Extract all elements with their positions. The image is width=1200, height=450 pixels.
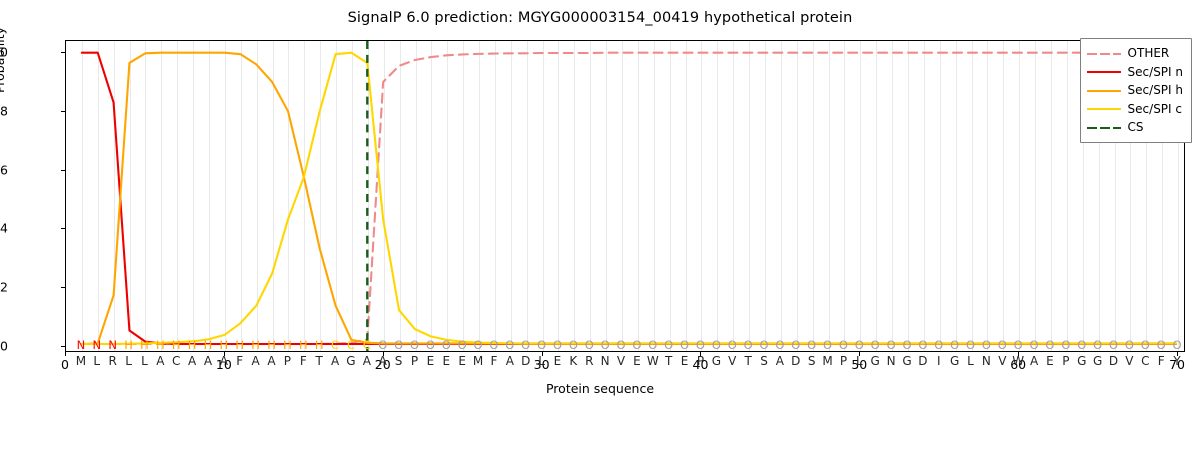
sequence-residue: T: [661, 353, 677, 369]
sequence-residue: A: [375, 353, 391, 369]
region-label: O: [1058, 337, 1074, 353]
region-label: O: [804, 337, 820, 353]
region-label: H: [184, 337, 200, 353]
region-label: C: [343, 337, 359, 353]
legend-item[interactable]: CS: [1087, 118, 1183, 137]
sequence-residue: V: [1121, 353, 1137, 369]
sequence-residue: A: [216, 353, 232, 369]
region-label: C: [359, 337, 375, 353]
sequence-residue: E: [677, 353, 693, 369]
sequence-residue: G: [343, 353, 359, 369]
y-tick-label: 0.2: [0, 280, 8, 295]
sequence-residue: L: [121, 353, 137, 369]
sequence-residue: S: [804, 353, 820, 369]
y-tick-label: 0.0: [0, 339, 8, 354]
sequence-residue: A: [248, 353, 264, 369]
sequence-residue: L: [851, 353, 867, 369]
sequence-residue: S: [756, 353, 772, 369]
region-label: H: [264, 337, 280, 353]
region-label: O: [422, 337, 438, 353]
region-label: O: [502, 337, 518, 353]
sequence-residue: N: [597, 353, 613, 369]
region-label: O: [518, 337, 534, 353]
region-label: H: [121, 337, 137, 353]
sequence-residue: P: [407, 353, 423, 369]
sequence-residue: P: [835, 353, 851, 369]
region-label: O: [581, 337, 597, 353]
sequence-residue: E: [549, 353, 565, 369]
x-axis-label: Protein sequence: [0, 381, 1200, 396]
region-label-row: NNNHHHHHHHHHHHHHCCCOOOOOOOOOOOOOOOOOOOOO…: [65, 337, 1185, 353]
sequence-residue: T: [311, 353, 327, 369]
region-label: N: [89, 337, 105, 353]
series-line-other: [82, 53, 1176, 344]
region-label: O: [883, 337, 899, 353]
sequence-residue: R: [581, 353, 597, 369]
region-label: O: [1153, 337, 1169, 353]
sequence-residue: I: [931, 353, 947, 369]
sequence-residue: L: [534, 353, 550, 369]
legend-swatch-icon: [1087, 66, 1121, 77]
region-label: O: [931, 337, 947, 353]
sequence-residue: P: [692, 353, 708, 369]
sequence-residue: C: [1137, 353, 1153, 369]
legend-item[interactable]: OTHER: [1087, 44, 1183, 63]
sequence-residue: V: [724, 353, 740, 369]
sequence-residue: M: [820, 353, 836, 369]
region-label: O: [407, 337, 423, 353]
sequence-residue: M: [73, 353, 89, 369]
region-label: N: [73, 337, 89, 353]
region-label: O: [1169, 337, 1185, 353]
sequence-residue: W: [1010, 353, 1026, 369]
series-line-sec-spi-h: [82, 53, 1176, 344]
region-label: O: [978, 337, 994, 353]
sequence-residue: A: [1026, 353, 1042, 369]
protein-sequence-row: MLRLLACAAAFAAPFTAGAASPEEEMFADLEKRNVEWTEP…: [65, 353, 1185, 369]
region-label: H: [136, 337, 152, 353]
series-line-sec-spi-n: [82, 53, 1176, 344]
sequence-residue: G: [1074, 353, 1090, 369]
region-label: O: [629, 337, 645, 353]
region-label: O: [454, 337, 470, 353]
legend-swatch-icon: [1087, 85, 1121, 96]
sequence-residue: L: [136, 353, 152, 369]
region-label: H: [152, 337, 168, 353]
region-label: O: [661, 337, 677, 353]
y-tick-label: 0.4: [0, 221, 8, 236]
region-label: C: [327, 337, 343, 353]
legend-swatch-icon: [1087, 48, 1121, 59]
sequence-residue: F: [1153, 353, 1169, 369]
legend: OTHERSec/SPI nSec/SPI hSec/SPI cCS: [1080, 38, 1192, 143]
region-label: O: [613, 337, 629, 353]
region-label: O: [692, 337, 708, 353]
sequence-residue: F: [486, 353, 502, 369]
sequence-residue: E: [422, 353, 438, 369]
chart-title: SignalP 6.0 prediction: MGYG000003154_00…: [0, 10, 1200, 26]
sequence-residue: P: [1058, 353, 1074, 369]
region-label: O: [756, 337, 772, 353]
region-label: O: [1042, 337, 1058, 353]
region-label: O: [947, 337, 963, 353]
region-label: O: [851, 337, 867, 353]
region-label: O: [899, 337, 915, 353]
sequence-residue: L: [963, 353, 979, 369]
region-label: O: [994, 337, 1010, 353]
signalp-prediction-figure: SignalP 6.0 prediction: MGYG000003154_00…: [0, 0, 1200, 450]
region-label: O: [565, 337, 581, 353]
region-label: H: [232, 337, 248, 353]
region-label: O: [597, 337, 613, 353]
region-label: H: [279, 337, 295, 353]
sequence-residue: V: [994, 353, 1010, 369]
sequence-residue: N: [883, 353, 899, 369]
region-label: H: [248, 337, 264, 353]
region-label: O: [963, 337, 979, 353]
sequence-residue: E: [454, 353, 470, 369]
region-label: H: [200, 337, 216, 353]
sequence-residue: D: [1106, 353, 1122, 369]
sequence-residue: D: [788, 353, 804, 369]
sequence-residue: T: [740, 353, 756, 369]
region-label: O: [724, 337, 740, 353]
region-label: O: [835, 337, 851, 353]
sequence-residue: E: [438, 353, 454, 369]
region-label: H: [168, 337, 184, 353]
region-label: O: [708, 337, 724, 353]
sequence-residue: E: [629, 353, 645, 369]
sequence-residue: A: [264, 353, 280, 369]
region-label: O: [1026, 337, 1042, 353]
sequence-residue: S: [391, 353, 407, 369]
region-label: O: [772, 337, 788, 353]
sequence-residue: G: [899, 353, 915, 369]
sequence-residue: D: [915, 353, 931, 369]
region-label: O: [677, 337, 693, 353]
sequence-residue: G: [1090, 353, 1106, 369]
legend-label: Sec/SPI n: [1128, 65, 1183, 79]
region-label: O: [534, 337, 550, 353]
region-label: O: [1106, 337, 1122, 353]
region-label: O: [549, 337, 565, 353]
region-label: N: [105, 337, 121, 353]
sequence-residue: L: [89, 353, 105, 369]
region-label: O: [867, 337, 883, 353]
region-label: O: [1137, 337, 1153, 353]
legend-label: CS: [1128, 120, 1144, 134]
sequence-residue: M: [470, 353, 486, 369]
region-label: H: [295, 337, 311, 353]
sequence-residue: N: [978, 353, 994, 369]
sequence-residue: G: [947, 353, 963, 369]
sequence-residue: C: [168, 353, 184, 369]
legend-item[interactable]: Sec/SPI h: [1087, 81, 1183, 100]
sequence-residue: A: [772, 353, 788, 369]
region-label: O: [470, 337, 486, 353]
sequence-residue: A: [502, 353, 518, 369]
region-label: O: [1010, 337, 1026, 353]
legend-label: Sec/SPI c: [1128, 102, 1182, 116]
region-label: O: [486, 337, 502, 353]
region-label: O: [438, 337, 454, 353]
sequence-residue: A: [200, 353, 216, 369]
sequence-residue: E: [1042, 353, 1058, 369]
sequence-residue: A: [359, 353, 375, 369]
plot-area: [65, 40, 1185, 352]
y-axis-label: Probability: [0, 0, 7, 150]
sequence-residue: Y: [1169, 353, 1185, 369]
region-label: O: [1074, 337, 1090, 353]
y-tick-label: 0.8: [0, 103, 8, 118]
region-label: O: [788, 337, 804, 353]
sequence-residue: G: [708, 353, 724, 369]
region-label: O: [740, 337, 756, 353]
region-label: O: [391, 337, 407, 353]
region-label: O: [820, 337, 836, 353]
region-label: O: [1090, 337, 1106, 353]
sequence-residue: G: [867, 353, 883, 369]
region-label: H: [216, 337, 232, 353]
region-label: O: [1121, 337, 1137, 353]
legend-item[interactable]: Sec/SPI c: [1087, 100, 1183, 119]
series-line-sec-spi-c: [82, 53, 1176, 344]
sequence-residue: V: [613, 353, 629, 369]
region-label: O: [375, 337, 391, 353]
legend-label: OTHER: [1128, 46, 1170, 60]
legend-label: Sec/SPI h: [1128, 83, 1183, 97]
sequence-residue: R: [105, 353, 121, 369]
region-label: O: [915, 337, 931, 353]
legend-swatch-icon: [1087, 103, 1121, 114]
region-label: O: [645, 337, 661, 353]
curves-layer: [66, 41, 1184, 351]
sequence-residue: P: [279, 353, 295, 369]
sequence-residue: A: [184, 353, 200, 369]
y-tick-label: 0.6: [0, 162, 8, 177]
sequence-residue: A: [327, 353, 343, 369]
sequence-residue: F: [295, 353, 311, 369]
sequence-residue: F: [232, 353, 248, 369]
region-label: H: [311, 337, 327, 353]
legend-swatch-icon: [1087, 122, 1121, 133]
sequence-residue: W: [645, 353, 661, 369]
sequence-residue: D: [518, 353, 534, 369]
legend-item[interactable]: Sec/SPI n: [1087, 63, 1183, 82]
sequence-residue: K: [565, 353, 581, 369]
y-tick-label: 1.0: [0, 44, 8, 59]
sequence-residue: A: [152, 353, 168, 369]
